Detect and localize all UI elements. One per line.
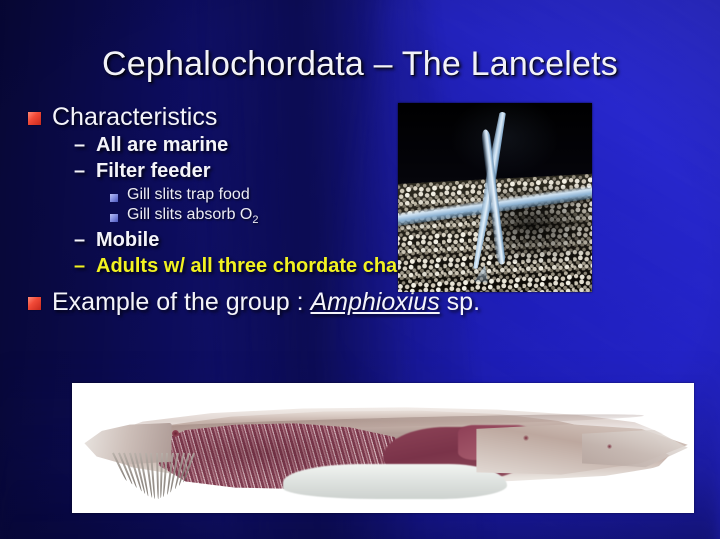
red-square-bullet-icon (28, 297, 41, 310)
specimen-ventral-region (283, 464, 507, 499)
specimen-pigment-spot (607, 444, 612, 449)
dash-icon: – (74, 161, 96, 182)
slide-title: Cephalochordata – The Lancelets (0, 45, 720, 84)
o2-subscript: 2 (252, 214, 258, 226)
specimen-pigment-spot (523, 435, 529, 441)
bullet-all-are-marine-label: All are marine (96, 135, 228, 156)
lancelets-in-gravel-photo (398, 103, 592, 292)
specimen-pigment-spot (172, 430, 179, 437)
amphioxus-specimen-photo (72, 383, 694, 513)
bullet-example-of-the-group: Example of the group : Amphioxius sp. (28, 289, 668, 315)
bullet-gill-slits-absorb-o2-label: Gill slits absorb O2 (127, 207, 259, 227)
bullet-mobile-label: Mobile (96, 230, 159, 251)
red-square-bullet-icon (28, 112, 41, 125)
bullet-example-label: Example of the group : Amphioxius sp. (52, 289, 480, 315)
bullet-characteristics-label: Characteristics (52, 104, 217, 130)
bullet-filter-feeder-label: Filter feeder (96, 161, 210, 182)
specimen-oral-cirri (112, 453, 193, 497)
specimen-caudal-fin (582, 430, 688, 469)
dash-icon: – (74, 256, 96, 277)
blue-square-bullet-icon (110, 214, 118, 222)
presentation-slide: Cephalochordata – The Lancelets Characte… (0, 0, 720, 539)
dash-icon: – (74, 135, 96, 156)
bullet-gill-slits-trap-food-label: Gill slits trap food (127, 187, 250, 204)
blue-square-bullet-icon (110, 194, 118, 202)
example-text-before: Example of the group : (52, 288, 310, 316)
photo-shine (398, 103, 592, 292)
o2-text: Gill slits absorb O (127, 206, 252, 223)
dash-icon: – (74, 230, 96, 251)
